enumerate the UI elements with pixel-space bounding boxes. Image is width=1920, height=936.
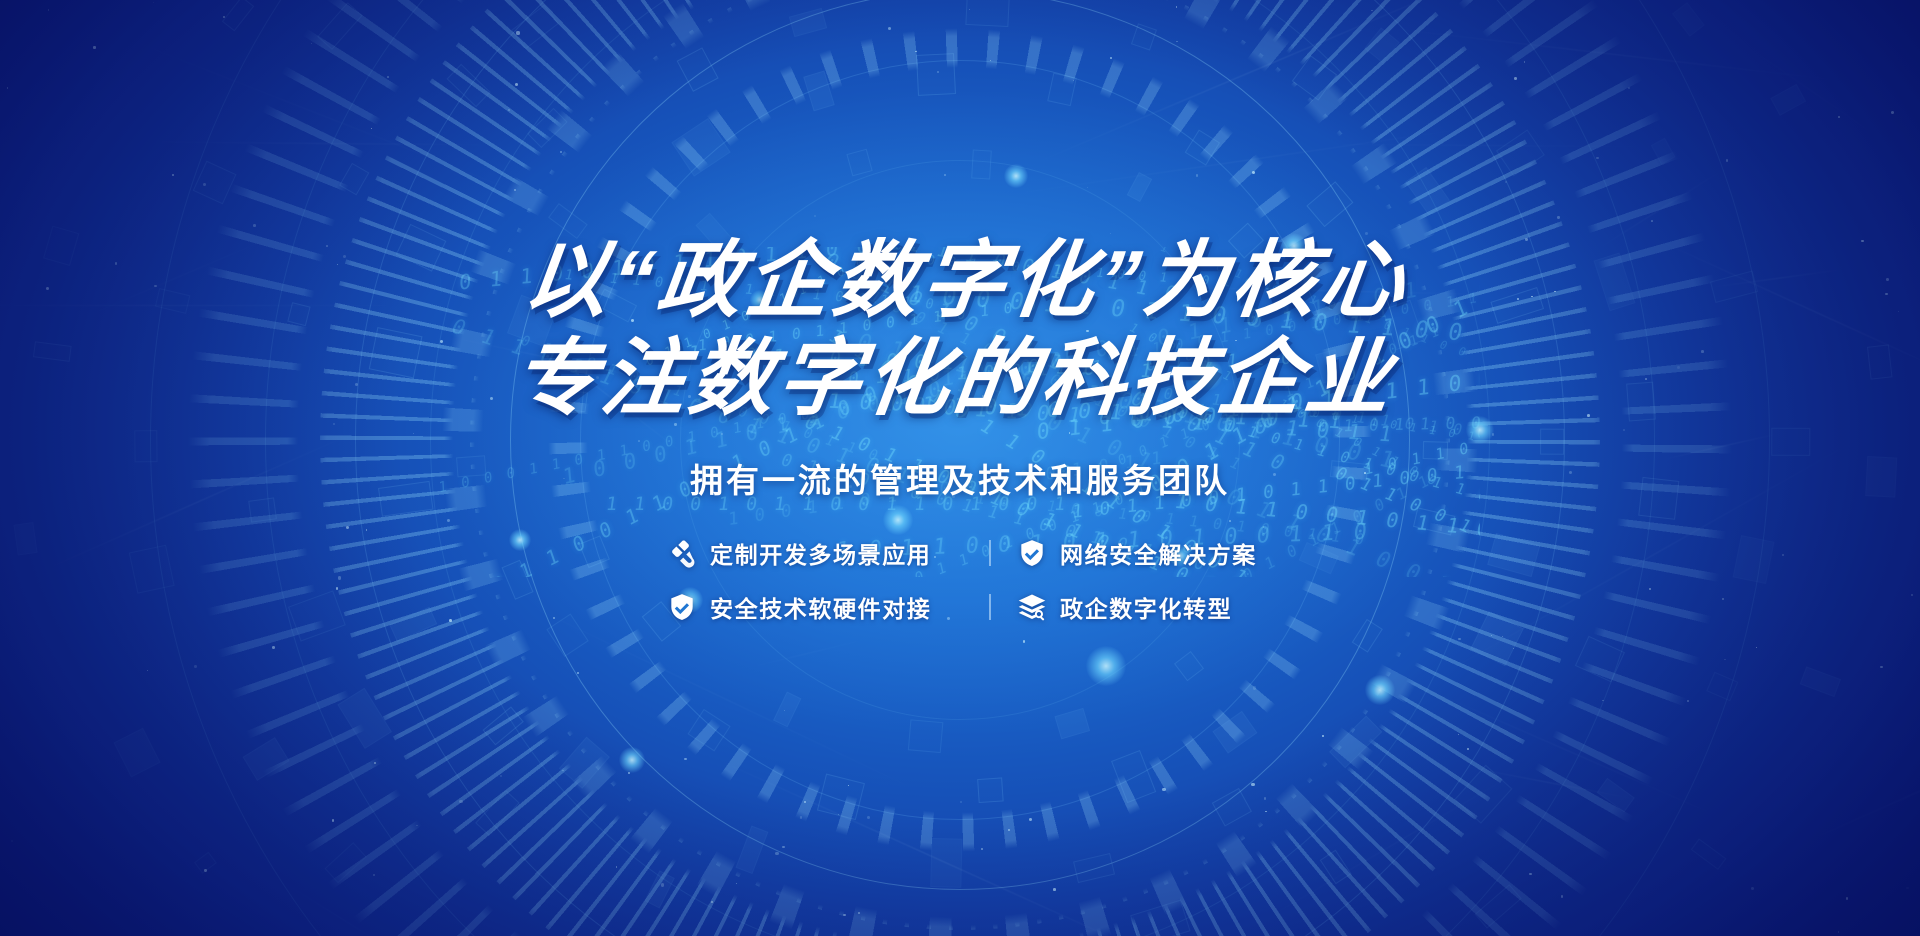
feature-list: 定制开发多场景应用 网络安全解决方案 (667, 536, 1253, 624)
headline-line-1: 以“政企数字化”为核心 (519, 238, 1413, 322)
banner-headline: 以“政企数字化”为核心 专注数字化的科技企业 (507, 238, 1413, 420)
feature-row-1: 定制开发多场景应用 网络安全解决方案 (667, 536, 1253, 570)
feature-label: 安全技术软硬件对接 (710, 590, 931, 624)
feature-divider (989, 540, 991, 566)
shield-check-icon (667, 592, 697, 622)
feature-label: 政企数字化转型 (1060, 590, 1232, 624)
layers-search-icon (1017, 592, 1047, 622)
hero-banner: 1 0 0 1 1 0 1 0 0 1 1 0 0 1 0 1 10 1 1 0… (0, 0, 1920, 936)
connector-plug-icon (667, 538, 697, 568)
feature-item-digital-transformation[interactable]: 政企数字化转型 (1017, 590, 1232, 624)
feature-row-2: 安全技术软硬件对接 (667, 590, 1253, 624)
feature-item-security-integration[interactable]: 安全技术软硬件对接 (667, 590, 931, 624)
headline-line-2: 专注数字化的科技企业 (507, 336, 1401, 420)
feature-label: 网络安全解决方案 (1060, 536, 1257, 570)
shield-check-icon (1017, 538, 1047, 568)
banner-subtitle: 拥有一流的管理及技术和服务团队 (690, 454, 1230, 502)
feature-item-custom-development[interactable]: 定制开发多场景应用 (667, 536, 931, 570)
feature-label: 定制开发多场景应用 (710, 536, 931, 570)
feature-divider (989, 594, 991, 620)
feature-item-network-security[interactable]: 网络安全解决方案 (1017, 536, 1257, 570)
banner-content: 以“政企数字化”为核心 专注数字化的科技企业 拥有一流的管理及技术和服务团队 (0, 0, 1920, 936)
